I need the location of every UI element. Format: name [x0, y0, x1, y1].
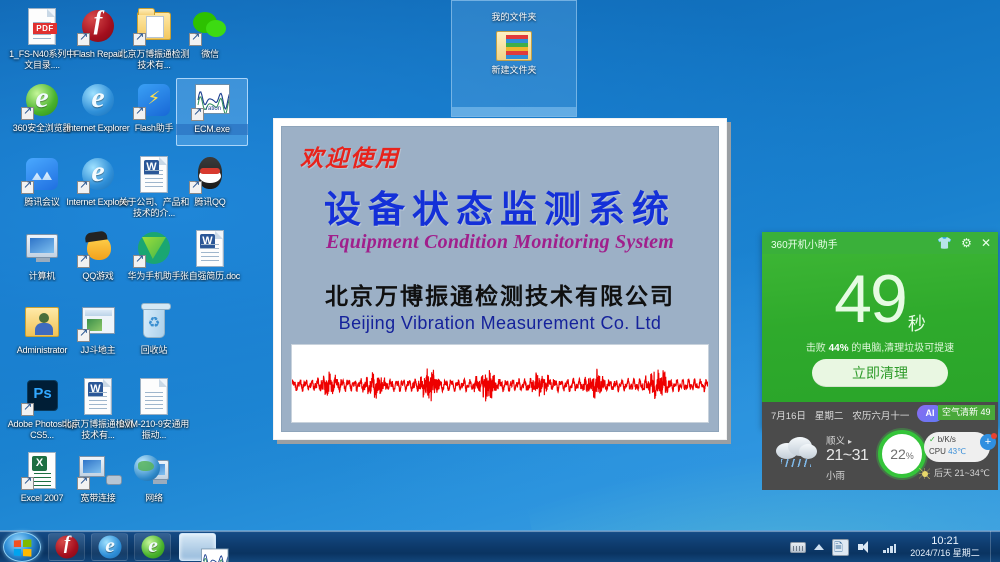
document-icon [140, 378, 168, 415]
splash-company-chinese: 北京万博振通检测技术有限公司 [282, 277, 718, 311]
desktop-icon-glyph [77, 155, 119, 195]
shortcut-arrow-icon [133, 255, 146, 268]
show-hidden-icons-icon[interactable] [814, 544, 824, 550]
desktop-icon-glyph [77, 7, 119, 47]
weather-weekday: 星期二 [815, 411, 844, 422]
splash-panel: 欢迎使用 设备状态监测系统 Equipment Condition Monito… [281, 126, 719, 432]
desktop-icon[interactable]: 腾讯QQ [174, 152, 246, 220]
internet-explorer-icon [82, 84, 114, 116]
word-document-icon: W [84, 378, 112, 415]
network-icon[interactable] [882, 539, 899, 556]
internet-explorer-icon [98, 535, 121, 558]
word-document-icon: W [196, 230, 224, 267]
shortcut-arrow-icon [191, 108, 204, 121]
weather-condition: 小雨 [826, 468, 845, 482]
clean-now-button[interactable]: 立即清理 [812, 359, 948, 387]
desktop-icon-glyph: W [77, 377, 119, 417]
desktop-icon-label: 微信 [174, 49, 246, 60]
desktop-icon-glyph [77, 229, 119, 269]
taskbar-flash-repair[interactable] [48, 533, 85, 561]
air-quality-badge: 空气清新 49 [938, 405, 995, 420]
shortcut-arrow-icon [77, 181, 90, 194]
desktop-icon-glyph [189, 7, 231, 47]
360-browser-icon [141, 535, 164, 558]
ecm-splash-window[interactable]: 欢迎使用 设备状态监测系统 Equipment Condition Monito… [273, 118, 727, 440]
weather-date: 7月16日 [771, 411, 806, 422]
rain-drops [781, 459, 811, 467]
globe-icon [134, 455, 160, 481]
folder-contents-swatch [506, 35, 528, 59]
desktop-icon[interactable]: 网络 [118, 448, 190, 516]
folder-region-item-label: 新建文件夹 [482, 63, 546, 76]
shortcut-arrow-icon [77, 255, 90, 268]
waveform-svg [292, 345, 708, 422]
network-speed: ✓b/K/s [929, 435, 956, 444]
shortcut-arrow-icon [21, 477, 34, 490]
desktop-icon-glyph [21, 81, 63, 121]
vibration-waveform-chart [291, 344, 709, 423]
desktop-icon[interactable]: rationECM.exe [176, 78, 248, 146]
clock-date: 2024/7/16 星期二 [905, 548, 985, 559]
desktop-icon-glyph [77, 303, 119, 343]
boot-time-value: 49秒 [762, 260, 998, 338]
beat-percent: 44% [829, 343, 849, 354]
shortcut-arrow-icon [77, 477, 90, 490]
weather-panel[interactable]: 7月16日星期二农历六月十一 AI 空气清新 49 顺义▸ 21~31 小雨 2… [762, 402, 998, 490]
widget-titlebar-tools: 👕 ⚙ ✕ [937, 237, 991, 249]
shortcut-arrow-icon [77, 329, 90, 342]
recycle-bin-icon [143, 306, 165, 338]
desktop-icon-glyph [21, 303, 63, 343]
system-monitor-pill[interactable]: ✓b/K/s CPU 43℃ + [924, 432, 990, 462]
desktop-icon[interactable]: 微信 [174, 4, 246, 72]
ecm-waveform-icon: ration [201, 549, 228, 562]
desktop-icon-glyph: PDF [21, 7, 63, 47]
folder-icon [496, 31, 532, 61]
widget-title: 360开机小助手 [771, 236, 838, 251]
clock-time: 10:21 [905, 536, 985, 547]
desktop-icon-glyph [21, 229, 63, 269]
desktop-icon-label: 腾讯QQ [174, 197, 246, 208]
gear-icon[interactable]: ⚙ [961, 237, 972, 249]
desktop-icon-glyph: W [189, 229, 231, 269]
chevron-right-icon: ▸ [848, 437, 852, 446]
shortcut-arrow-icon [133, 107, 146, 120]
start-orb[interactable] [3, 532, 41, 562]
desktop-icon-glyph [133, 451, 175, 491]
computer-icon [26, 234, 58, 258]
pdf-document-icon: PDF [28, 8, 56, 45]
desktop-icon[interactable]: W张自强简历.doc [174, 226, 246, 294]
shortcut-arrow-icon [133, 33, 146, 46]
sun-icon [919, 468, 930, 479]
weather-date-line: 7月16日星期二农历六月十一 [771, 408, 909, 422]
splash-title-chinese: 设备状态监测系统 [282, 179, 718, 233]
shortcut-arrow-icon [21, 181, 34, 194]
user-folder-icon [25, 307, 59, 337]
taskbar-button-icon [132, 528, 174, 562]
show-desktop-button[interactable] [990, 531, 1000, 562]
desktop-icon-glyph [133, 81, 175, 121]
action-center-icon[interactable] [832, 539, 849, 556]
shortcut-arrow-icon [189, 33, 202, 46]
cpu-temperature: CPU 43℃ [929, 447, 966, 456]
weather-lunar: 农历六月十一 [852, 411, 909, 422]
folder-selection-region[interactable]: 我的文件夹 新建文件夹 [451, 0, 577, 117]
desktop-icon-glyph: W [133, 155, 175, 195]
broadband-connection-icon [79, 456, 105, 477]
taskbar-360-browser[interactable] [134, 533, 171, 561]
desktop-icon-glyph [21, 155, 63, 195]
splash-welcome-text: 欢迎使用 [300, 139, 400, 173]
splash-title-english: Equipment Condition Monitoring System [282, 231, 718, 254]
folder-region-title: 我的文件夹 [452, 10, 576, 23]
desktop-icon-glyph [21, 451, 63, 491]
system-tray[interactable]: 10:21 2024/7/16 星期二 [786, 531, 1000, 562]
taskbar-button-icon [89, 528, 131, 562]
desktop-icon-label: 网络 [118, 493, 190, 504]
shortcut-arrow-icon [21, 403, 34, 416]
taskbar-clock[interactable]: 10:21 2024/7/16 星期二 [903, 536, 987, 559]
desktop-icon-glyph [189, 155, 231, 195]
desktop-icon-label: 张自强简历.doc [174, 271, 246, 282]
desktop-icon-glyph [133, 377, 175, 417]
boot-time-subtitle: 击败 44% 的电脑,清理垃圾可提速 [762, 339, 998, 354]
desktop-icon-glyph [133, 303, 175, 343]
desktop-icon-glyph [133, 229, 175, 269]
check-icon: ✓ [929, 435, 936, 444]
desktop-icon-label: ECM.exe [176, 124, 248, 135]
desktop-icon-glyph [21, 377, 63, 417]
desktop-icon-label: BVM-210-9安通用振动... [118, 419, 190, 440]
weather-location[interactable]: 顺义▸ [826, 433, 852, 447]
360-boot-assistant-widget[interactable]: 360开机小助手 👕 ⚙ ✕ 49秒 击败 44% 的电脑,清理垃圾可提速 立即… [762, 232, 998, 428]
folder-region-item[interactable]: 新建文件夹 [482, 31, 546, 76]
taskbar-ecm[interactable]: ration [179, 533, 216, 561]
flash-logo-icon [55, 535, 78, 558]
add-widget-button[interactable]: + [980, 434, 996, 450]
splash-company-english: Beijing Vibration Measurement Co. Ltd [282, 313, 718, 334]
taskbar-button-icon [46, 528, 88, 562]
desktop[interactable]: PDF1_FS-N40系列中文目录....Flash Repair北京万博振通检… [0, 0, 1000, 530]
desktop-icon-label: 回收站 [118, 345, 190, 356]
folder-region-bottom-bar [452, 107, 576, 116]
shortcut-arrow-icon [21, 107, 34, 120]
day-after-forecast: 后天 21~34℃ [934, 466, 990, 479]
desktop-icon[interactable]: 回收站 [118, 300, 190, 368]
shortcut-arrow-icon [77, 33, 90, 46]
rain-cloud-icon [774, 435, 820, 465]
close-icon[interactable]: ✕ [981, 237, 991, 249]
widget-body: 49秒 击败 44% 的电脑,清理垃圾可提速 立即清理 [762, 254, 998, 402]
weather-temp-range: 21~31 [826, 447, 868, 465]
widget-titlebar: 360开机小助手 👕 ⚙ ✕ [762, 232, 998, 254]
word-document-icon: W [140, 156, 168, 193]
shirt-icon[interactable]: 👕 [937, 237, 952, 249]
keyboard-icon[interactable] [790, 542, 806, 553]
desktop-icon-glyph [77, 81, 119, 121]
desktop-icon[interactable]: BVM-210-9安通用振动... [118, 374, 190, 442]
desktop-icon-glyph [77, 451, 119, 491]
svg-text:ration: ration [206, 106, 221, 112]
boot-time-unit: 秒 [908, 314, 926, 334]
taskbar[interactable]: ration 10:21 2024/7/16 星期二 [0, 530, 1000, 562]
desktop-icon-glyph [133, 7, 175, 47]
taskbar-ie[interactable] [91, 533, 128, 561]
windows-logo-icon [14, 539, 32, 556]
shortcut-arrow-icon [189, 181, 202, 194]
desktop-icon-glyph: ration [191, 82, 233, 122]
volume-icon[interactable] [857, 539, 874, 556]
